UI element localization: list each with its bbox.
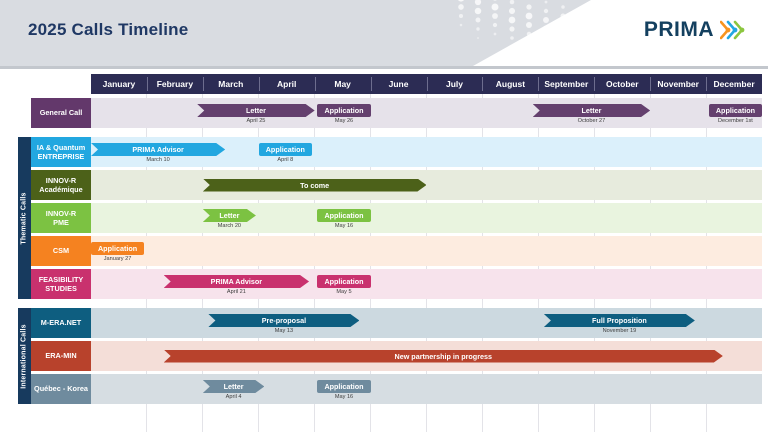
page-title: 2025 Calls Timeline [28, 20, 188, 40]
month-header-march: March [203, 74, 259, 94]
bar-date-ia-quantum-entreprise-1: April 8 [259, 157, 312, 163]
month-header-january: January [91, 74, 147, 94]
bar-label: Pre-proposal [262, 316, 306, 325]
bar-general-call-3[interactable]: Application [709, 104, 762, 117]
row-label-line: PME [53, 218, 69, 227]
timeline-row-ia-quantum-entreprise: IA & QuantumENTREPRISEPRIMA AdvisorMarch… [31, 137, 762, 167]
section-spine-label: International Calls [21, 324, 28, 388]
section-spine-international: International Calls [18, 308, 31, 404]
row-track-m-era-net: Pre-proposalMay 13Full PropositionNovemb… [91, 308, 762, 338]
row-label-csm[interactable]: CSM [31, 236, 91, 266]
bar-label: Application [324, 211, 363, 220]
timeline-row-innov-r-academique: INNOV-RAcadémiqueTo come [31, 170, 762, 200]
bar-label: Letter [246, 106, 266, 115]
slide-root: 2025 Calls Timeline PRIMA JanuaryFebruar… [0, 0, 768, 432]
bar-date-feasibility-studies-0: April 21 [164, 289, 309, 295]
logo-wordmark: PRIMA [644, 18, 714, 42]
row-track-feasibility-studies: PRIMA AdvisorApril 21ApplicationMay 5 [91, 269, 762, 299]
section-spine-thematic: Thematic Calls [18, 137, 31, 299]
row-label-line: Académique [39, 185, 82, 194]
row-label-line: FEASIBILITY [39, 275, 84, 284]
row-label-feasibility-studies[interactable]: FEASIBILITYSTUDIES [31, 269, 91, 299]
row-label-ia-quantum-entreprise[interactable]: IA & QuantumENTREPRISE [31, 137, 91, 167]
bar-date-general-call-1: May 26 [317, 118, 370, 124]
bar-innov-r-pme-0[interactable]: Letter [203, 209, 256, 222]
bar-date-general-call-3: December 1st [709, 118, 762, 124]
row-label-line: INNOV-R [46, 176, 76, 185]
bar-date-quebec-korea-0: April 4 [203, 394, 265, 400]
row-label-line: INNOV-R [46, 209, 76, 218]
month-header-row: JanuaryFebruaryMarchAprilMayJuneJulyAugu… [91, 74, 762, 94]
bar-label: Application [98, 244, 137, 253]
prima-logo: PRIMA [644, 18, 746, 42]
row-label-general-call[interactable]: General Call [31, 98, 91, 128]
row-track-innov-r-academique: To come [91, 170, 762, 200]
month-header-july: July [427, 74, 483, 94]
bar-m-era-net-0[interactable]: Pre-proposal [208, 314, 359, 327]
row-track-innov-r-pme: LetterMarch 20ApplicationMay 16 [91, 203, 762, 233]
bar-innov-r-pme-1[interactable]: Application [317, 209, 370, 222]
timeline-chart: JanuaryFebruaryMarchAprilMayJuneJulyAugu… [0, 69, 768, 432]
slide-header: 2025 Calls Timeline PRIMA [0, 0, 768, 66]
bar-date-quebec-korea-1: May 16 [317, 394, 370, 400]
month-header-february: February [147, 74, 203, 94]
month-header-october: October [594, 74, 650, 94]
row-label-line: M-ERA.NET [41, 318, 82, 327]
bar-label: Full Proposition [592, 316, 647, 325]
bar-date-m-era-net-1: November 19 [544, 328, 695, 334]
timeline-row-innov-r-pme: INNOV-RPMELetterMarch 20ApplicationMay 1… [31, 203, 762, 233]
row-label-line: STUDIES [45, 284, 77, 293]
month-header-june: June [371, 74, 427, 94]
bar-label: Application [324, 106, 363, 115]
bar-m-era-net-1[interactable]: Full Proposition [544, 314, 695, 327]
month-header-may: May [315, 74, 371, 94]
bar-quebec-korea-0[interactable]: Letter [203, 380, 265, 393]
bar-label: Application [716, 106, 755, 115]
bar-date-general-call-0: April 25 [197, 118, 314, 124]
bar-date-m-era-net-0: May 13 [208, 328, 359, 334]
section-spine-label: Thematic Calls [21, 192, 28, 244]
bar-label: To come [300, 181, 329, 190]
bar-label: Letter [224, 382, 244, 391]
row-label-line: IA & Quantum [37, 143, 85, 152]
bar-date-csm-0: January 27 [91, 256, 144, 262]
timeline-row-csm: CSMApplicationJanuary 27 [31, 236, 762, 266]
timeline-row-quebec-korea: Québec - KoreaLetterApril 4ApplicationMa… [31, 374, 762, 404]
row-track-era-min: New partnership in progress [91, 341, 762, 371]
month-header-august: August [482, 74, 538, 94]
row-track-general-call: LetterApril 25ApplicationMay 26LetterOct… [91, 98, 762, 128]
bar-quebec-korea-1[interactable]: Application [317, 380, 370, 393]
row-label-line: CSM [53, 246, 69, 255]
timeline-row-feasibility-studies: FEASIBILITYSTUDIESPRIMA AdvisorApril 21A… [31, 269, 762, 299]
bar-general-call-2[interactable]: Letter [533, 104, 650, 117]
bar-label: Letter [581, 106, 601, 115]
bar-date-general-call-2: October 27 [533, 118, 650, 124]
row-label-quebec-korea[interactable]: Québec - Korea [31, 374, 91, 404]
month-header-november: November [650, 74, 706, 94]
row-track-ia-quantum-entreprise: PRIMA AdvisorMarch 10ApplicationApril 8 [91, 137, 762, 167]
month-header-december: December [706, 74, 762, 94]
row-track-csm: ApplicationJanuary 27 [91, 236, 762, 266]
month-header-april: April [259, 74, 315, 94]
month-header-september: September [538, 74, 594, 94]
bar-date-feasibility-studies-1: May 5 [317, 289, 370, 295]
bar-feasibility-studies-0[interactable]: PRIMA Advisor [164, 275, 309, 288]
row-label-line: ERA-MIN [45, 351, 76, 360]
bar-date-ia-quantum-entreprise-0: March 10 [91, 157, 225, 163]
bar-label: Application [324, 277, 363, 286]
row-label-innov-r-academique[interactable]: INNOV-RAcadémique [31, 170, 91, 200]
bar-ia-quantum-entreprise-1[interactable]: Application [259, 143, 312, 156]
bar-label: PRIMA Advisor [211, 277, 262, 286]
bar-label: Application [266, 145, 305, 154]
row-label-line: ENTREPRISE [38, 152, 85, 161]
bar-era-min-0[interactable]: New partnership in progress [164, 350, 723, 363]
bar-feasibility-studies-1[interactable]: Application [317, 275, 370, 288]
bar-label: Application [324, 382, 363, 391]
timeline-row-m-era-net: M-ERA.NETPre-proposalMay 13Full Proposit… [31, 308, 762, 338]
row-label-era-min[interactable]: ERA-MIN [31, 341, 91, 371]
row-label-innov-r-pme[interactable]: INNOV-RPME [31, 203, 91, 233]
bar-label: New partnership in progress [395, 352, 492, 361]
timeline-row-general-call: General CallLetterApril 25ApplicationMay… [31, 98, 762, 128]
prima-chevron-dots-logo-icon [720, 20, 746, 40]
bar-general-call-0[interactable]: Letter [197, 104, 314, 117]
row-label-m-era-net[interactable]: M-ERA.NET [31, 308, 91, 338]
timeline-row-era-min: ERA-MINNew partnership in progress [31, 341, 762, 371]
row-label-line: General Call [40, 108, 83, 117]
bar-innov-r-academique-0[interactable]: To come [203, 179, 427, 192]
row-label-line: Québec - Korea [34, 384, 88, 393]
row-track-quebec-korea: LetterApril 4ApplicationMay 16 [91, 374, 762, 404]
bar-date-innov-r-pme-1: May 16 [317, 223, 370, 229]
bar-date-innov-r-pme-0: March 20 [203, 223, 256, 229]
bar-label: PRIMA Advisor [132, 145, 183, 154]
bar-ia-quantum-entreprise-0[interactable]: PRIMA Advisor [91, 143, 225, 156]
bar-label: Letter [219, 211, 239, 220]
bar-csm-0[interactable]: Application [91, 242, 144, 255]
bar-general-call-1[interactable]: Application [317, 104, 370, 117]
